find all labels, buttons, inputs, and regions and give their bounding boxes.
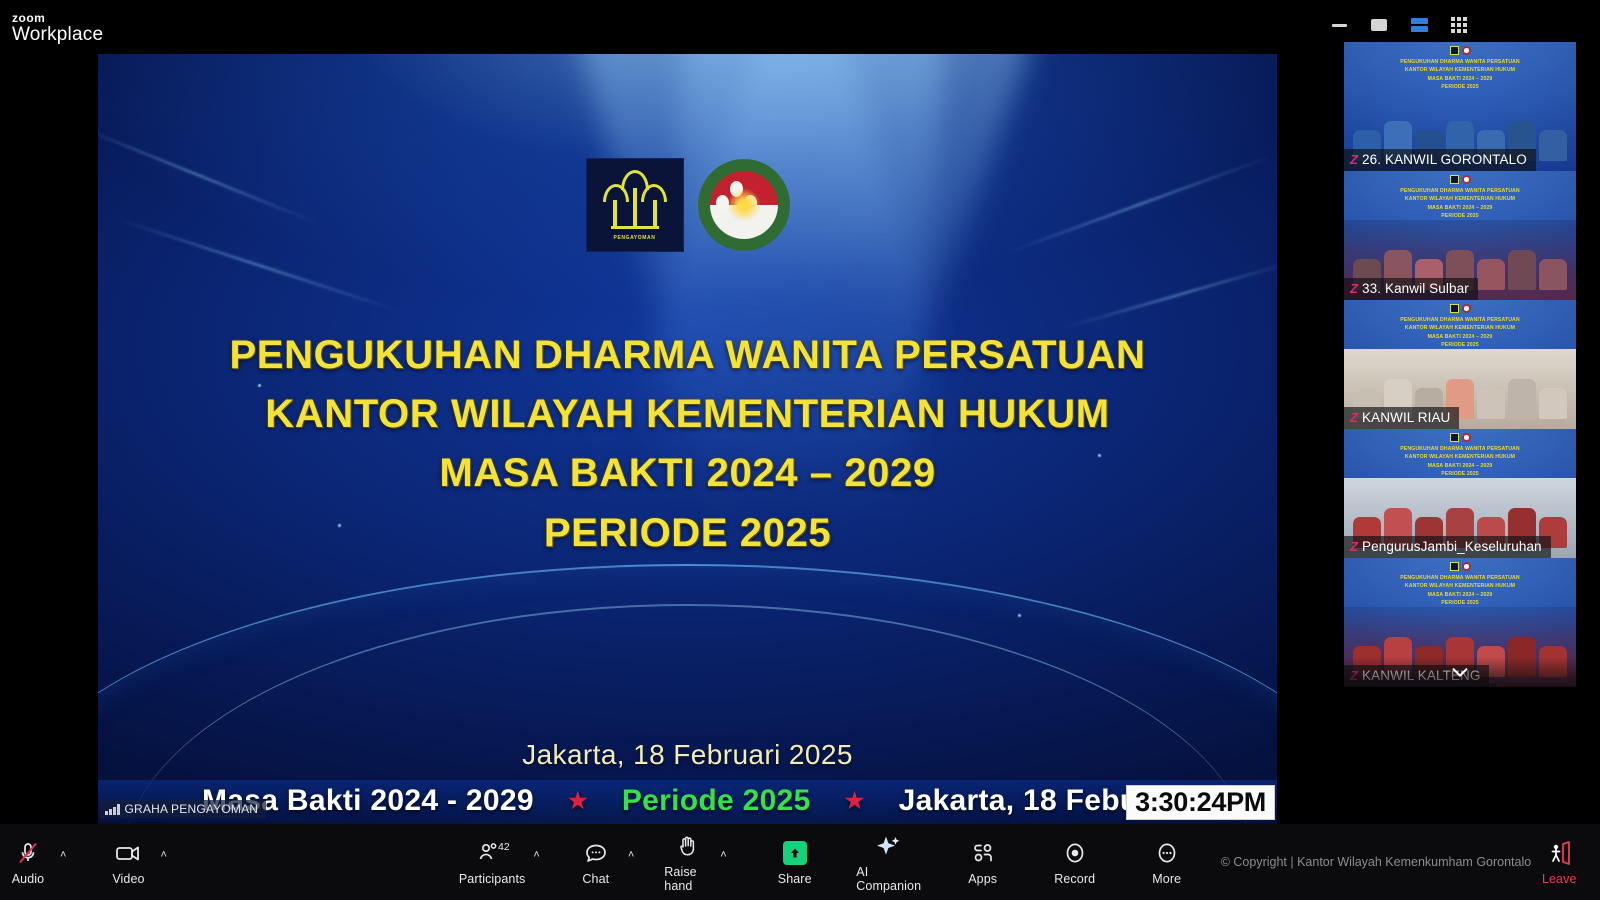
- pengayoman-caption: PENGAYOMAN: [614, 235, 656, 241]
- thumbnail-name-text: PengurusJambi_Keseluruhan: [1362, 539, 1542, 554]
- thumbnail-person: [1508, 250, 1536, 290]
- slide-logos: PENGAYOMAN: [98, 158, 1277, 252]
- thumbnail-person: [1508, 379, 1536, 419]
- slide-title: PENGUKUHAN DHARMA WANITA PERSATUAN KANTO…: [98, 326, 1277, 563]
- raise-hand-options-caret[interactable]: ˄: [720, 849, 726, 861]
- thumbnail-name-label: Z26. KANWIL GORONTALO: [1344, 149, 1536, 171]
- apps-label: Apps: [968, 872, 997, 886]
- participant-thumbnail[interactable]: PENGUKUHAN DHARMA WANITA PERSATUAN KANTO…: [1344, 558, 1576, 687]
- share-screen-icon: [783, 839, 807, 867]
- zoom-mark-icon: Z: [1350, 281, 1358, 296]
- video-button[interactable]: Video: [100, 829, 156, 895]
- more-label: More: [1152, 872, 1181, 886]
- split-view-icon[interactable]: [1408, 14, 1430, 36]
- thumbnail-person: [1539, 130, 1567, 161]
- record-icon: [1062, 839, 1088, 867]
- presenter-name-chip: GRAHA PENGAYOMAN: [100, 800, 266, 818]
- audio-label: Audio: [12, 872, 44, 886]
- chat-icon: [583, 839, 609, 867]
- slide-date-line: Jakarta, 18 Februari 2025: [98, 739, 1277, 771]
- zoom-mark-icon: Z: [1350, 539, 1358, 554]
- maximize-icon[interactable]: [1368, 14, 1390, 36]
- video-options-caret[interactable]: ˄: [160, 849, 166, 861]
- thumbnail-name-label: Z33. Kanwil Sulbar: [1344, 278, 1478, 300]
- thumbnail-slide-title: PENGUKUHAN DHARMA WANITA PERSATUAN KANTO…: [1344, 316, 1576, 350]
- thumbnail-person: [1539, 259, 1567, 290]
- brand-workplace-text: Workplace: [12, 25, 103, 45]
- slide-marquee: Masa Bakti 2024 - 2029★Periode 2025★Jaka…: [98, 780, 1277, 822]
- thumbnail-name-label: ZPengurusJambi_Keseluruhan: [1344, 536, 1551, 558]
- microphone-muted-icon: [15, 839, 41, 867]
- participants-count: 42: [498, 841, 509, 853]
- raise-hand-label: Raise hand: [664, 865, 712, 893]
- thumbnail-mini-logos: [1344, 433, 1576, 442]
- camera-icon: [114, 839, 142, 867]
- decor-dot: [1018, 614, 1021, 617]
- thumbnail-mini-logos: [1344, 46, 1576, 55]
- marquee-separator: ★: [568, 788, 588, 814]
- thumbnail-slide-title: PENGUKUHAN DHARMA WANITA PERSATUAN KANTO…: [1344, 58, 1576, 92]
- ai-sparkle-icon: [875, 832, 903, 860]
- share-label: Share: [778, 872, 812, 886]
- apps-button[interactable]: Apps: [955, 829, 1011, 895]
- thumbnail-person: [1477, 388, 1505, 419]
- record-label: Record: [1054, 872, 1095, 886]
- dharma-wanita-logo-icon: [698, 159, 790, 251]
- shared-screen-stage[interactable]: PENGAYOMAN PENGUKUHAN DHARMA WANITA PERS…: [98, 54, 1277, 824]
- window-view-controls: [1328, 14, 1470, 36]
- participants-label: Participants: [459, 872, 526, 886]
- audio-button[interactable]: Audio: [0, 829, 56, 895]
- zoom-mark-icon: Z: [1350, 152, 1358, 167]
- thumbnail-slide-title: PENGUKUHAN DHARMA WANITA PERSATUAN KANTO…: [1344, 574, 1576, 608]
- thumbnail-name-text: 26. KANWIL GORONTALO: [1362, 152, 1527, 167]
- more-button[interactable]: More: [1139, 829, 1195, 895]
- slide-clock: 3:30:24PM: [1126, 785, 1275, 820]
- chat-label: Chat: [582, 872, 609, 886]
- marquee-item: Periode 2025: [622, 784, 811, 818]
- grid-view-icon[interactable]: [1448, 14, 1470, 36]
- thumbnail-mini-logos: [1344, 175, 1576, 184]
- meeting-toolbar: Audio ˄ Video ˄: [0, 824, 1600, 900]
- chat-button[interactable]: Chat: [568, 829, 624, 895]
- decor-streak: [1062, 261, 1277, 329]
- zoom-mark-icon: Z: [1350, 410, 1358, 425]
- thumbnail-slide-title: PENGUKUHAN DHARMA WANITA PERSATUAN KANTO…: [1344, 445, 1576, 479]
- participants-icon: 42: [475, 839, 509, 867]
- leave-label: Leave: [1542, 872, 1577, 886]
- raise-hand-button[interactable]: Raise hand: [660, 829, 716, 895]
- ai-companion-button[interactable]: AI Companion: [861, 829, 917, 895]
- signal-strength-icon: [105, 804, 120, 815]
- zoom-workplace-logo: zoom Workplace: [12, 12, 103, 45]
- leave-button[interactable]: Leave: [1531, 829, 1587, 895]
- audio-options-caret[interactable]: ˄: [60, 849, 66, 861]
- thumbnail-name-text: KANWIL RIAU: [1362, 410, 1450, 425]
- pengayoman-logo-icon: PENGAYOMAN: [586, 158, 684, 252]
- participant-thumbnail[interactable]: PENGUKUHAN DHARMA WANITA PERSATUAN KANTO…: [1344, 171, 1576, 300]
- share-button[interactable]: Share: [767, 829, 823, 895]
- leave-meeting-icon: [1545, 839, 1573, 867]
- presenter-name-label: GRAHA PENGAYOMAN: [125, 802, 259, 816]
- thumbnail-name-label: ZKANWIL RIAU: [1344, 407, 1459, 429]
- raised-hand-icon: [675, 832, 701, 860]
- record-button[interactable]: Record: [1047, 829, 1103, 895]
- thumbnail-person: [1477, 259, 1505, 290]
- participant-filmstrip[interactable]: PENGUKUHAN DHARMA WANITA PERSATUAN KANTO…: [1344, 42, 1576, 688]
- zoom-meeting-window: zoom Workplace: [0, 0, 1600, 900]
- minimize-icon[interactable]: [1328, 14, 1350, 36]
- participant-thumbnail[interactable]: PENGUKUHAN DHARMA WANITA PERSATUAN KANTO…: [1344, 300, 1576, 429]
- thumbnail-mini-logos: [1344, 562, 1576, 571]
- chat-options-caret[interactable]: ˄: [628, 849, 634, 861]
- copyright-text: © Copyright | Kantor Wilayah Kemenkumham…: [1221, 855, 1532, 869]
- more-dots-icon: [1154, 839, 1180, 867]
- participants-options-caret[interactable]: ˄: [533, 849, 539, 861]
- participants-button[interactable]: 42 Participants: [455, 829, 530, 895]
- marquee-separator: ★: [845, 788, 865, 814]
- participant-thumbnail[interactable]: PENGUKUHAN DHARMA WANITA PERSATUAN KANTO…: [1344, 429, 1576, 558]
- apps-icon: [970, 839, 996, 867]
- chevron-down-icon[interactable]: [1344, 657, 1576, 687]
- participant-thumbnail[interactable]: PENGUKUHAN DHARMA WANITA PERSATUAN KANTO…: [1344, 42, 1576, 171]
- video-label: Video: [112, 872, 144, 886]
- thumbnail-slide-title: PENGUKUHAN DHARMA WANITA PERSATUAN KANTO…: [1344, 187, 1576, 221]
- brand-zoom-text: zoom: [12, 12, 103, 25]
- thumbnail-name-text: 33. Kanwil Sulbar: [1362, 281, 1469, 296]
- thumbnail-mini-logos: [1344, 304, 1576, 313]
- thumbnail-person: [1539, 388, 1567, 419]
- ai-companion-label: AI Companion: [856, 865, 921, 893]
